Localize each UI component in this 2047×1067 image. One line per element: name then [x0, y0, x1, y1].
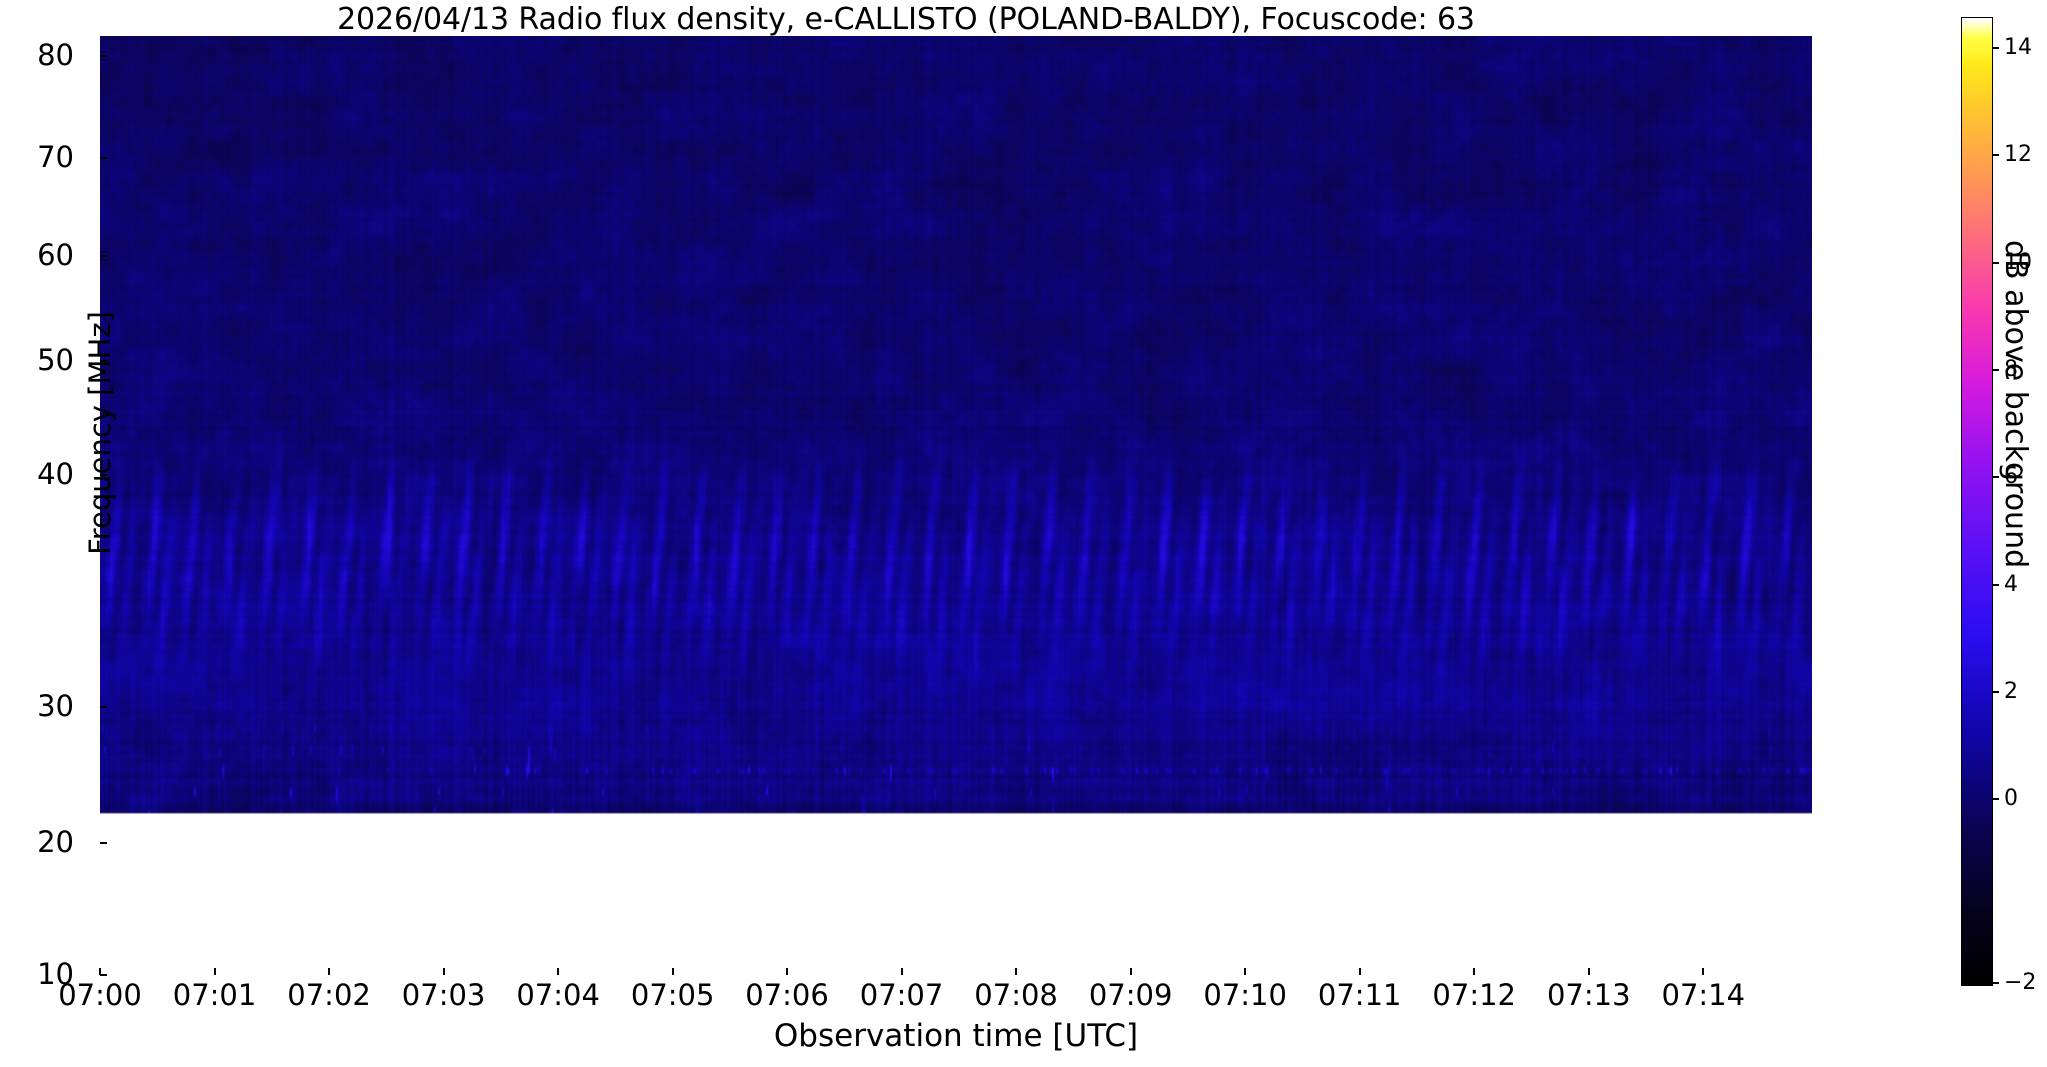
x-tick-mark — [328, 968, 330, 975]
page-title: 2026/04/13 Radio flux density, e-CALLIST… — [0, 2, 1812, 37]
y-tick-label: 50 — [37, 346, 74, 375]
x-tick-label: 07:02 — [287, 981, 371, 1010]
y-tick-label: 70 — [37, 143, 74, 172]
x-tick-mark — [443, 968, 445, 975]
x-tick-mark — [1244, 968, 1246, 975]
y-tick-mark — [100, 157, 107, 159]
x-tick-mark — [214, 968, 216, 975]
x-tick-mark — [1588, 968, 1590, 975]
x-tick-label: 07:13 — [1547, 981, 1631, 1010]
colorbar[interactable]: 14121086420−2 — [1962, 18, 1992, 985]
colorbar-tick-mark — [1992, 798, 1999, 800]
y-axis-label-wrap: Frequency [MHz] — [0, 36, 1, 975]
y-axis-tick-labels: 8070605040302010 — [0, 36, 88, 975]
x-tick-label: 07:08 — [974, 981, 1058, 1010]
x-axis-label: Observation time [UTC] — [100, 1018, 1812, 1054]
colorbar-tick-mark — [1992, 154, 1999, 156]
y-tick-mark — [100, 255, 107, 257]
x-tick-mark — [99, 968, 101, 975]
colorbar-tick-mark — [1992, 47, 1999, 49]
x-tick-label: 07:14 — [1661, 981, 1745, 1010]
x-tick-label: 07:10 — [1203, 981, 1287, 1010]
spectrogram-image — [100, 36, 1812, 975]
y-tick-label: 60 — [37, 241, 74, 270]
x-tick-label: 07:03 — [402, 981, 486, 1010]
x-tick-mark — [1359, 968, 1361, 975]
colorbar-tick-label: 14 — [2004, 37, 2032, 59]
colorbar-label: dB above background — [1998, 240, 2033, 740]
x-tick-label: 07:04 — [516, 981, 600, 1010]
y-tick-mark — [100, 842, 107, 844]
x-tick-label: 07:12 — [1432, 981, 1516, 1010]
colorbar-tick-label: 0 — [2004, 788, 2018, 810]
x-tick-label: 07:01 — [173, 981, 257, 1010]
x-tick-mark — [901, 968, 903, 975]
x-tick-mark — [1702, 968, 1704, 975]
x-tick-mark — [672, 968, 674, 975]
colorbar-tick-label: −2 — [2004, 972, 2036, 994]
x-tick-label: 07:05 — [631, 981, 715, 1010]
x-tick-mark — [1473, 968, 1475, 975]
x-tick-mark — [557, 968, 559, 975]
spectrogram-plot-area[interactable] — [100, 36, 1812, 975]
colorbar-tick-mark — [1992, 982, 1999, 984]
y-tick-label: 20 — [37, 828, 74, 857]
y-tick-label: 30 — [37, 692, 74, 721]
spectrogram-figure: 2026/04/13 Radio flux density, e-CALLIST… — [0, 0, 2047, 1067]
y-tick-mark — [100, 706, 107, 708]
x-tick-mark — [786, 968, 788, 975]
colorbar-tick-label: 12 — [2004, 144, 2032, 166]
colorbar-gradient — [1961, 17, 1993, 986]
x-tick-label: 07:00 — [58, 981, 142, 1010]
x-tick-label: 07:09 — [1089, 981, 1173, 1010]
x-tick-mark — [1015, 968, 1017, 975]
y-tick-label: 40 — [37, 460, 74, 489]
x-tick-label: 07:06 — [745, 981, 829, 1010]
x-axis-tick-labels: 07:0007:0107:0207:0307:0407:0507:0607:07… — [100, 975, 1812, 1015]
y-tick-label: 80 — [37, 41, 74, 70]
y-tick-mark — [100, 55, 107, 57]
y-axis-label: Frequency [MHz] — [83, 311, 117, 555]
x-tick-label: 07:11 — [1318, 981, 1402, 1010]
x-tick-label: 07:07 — [860, 981, 944, 1010]
x-tick-mark — [1130, 968, 1132, 975]
